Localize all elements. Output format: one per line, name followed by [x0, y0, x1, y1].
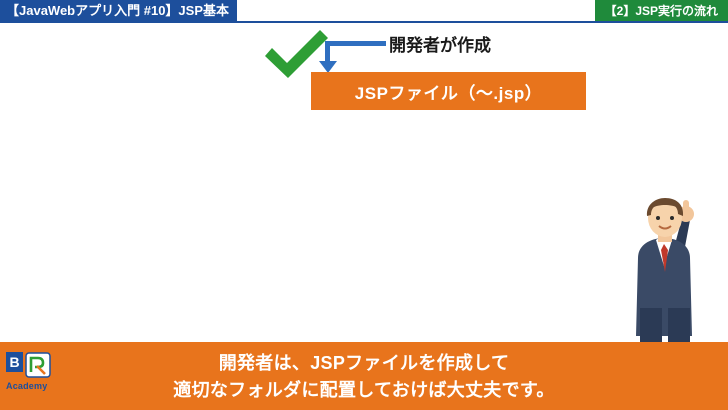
- header-bar: 【JavaWebアプリ入門 #10】JSP基本 【2】JSP実行の流れ: [0, 0, 728, 22]
- caption-line-2: 適切なフォルダに配置しておけば大丈夫です。: [0, 377, 728, 404]
- arrow-horizontal-segment: [330, 41, 386, 46]
- header-left-title: 【JavaWebアプリ入門 #10】JSP基本: [0, 0, 237, 22]
- jsp-file-box-label: JSPファイル（～.jsp）: [355, 79, 542, 104]
- logo-name: Academy: [6, 381, 52, 391]
- caption-line-1: 開発者は、JSPファイルを作成して: [0, 350, 728, 377]
- jsp-file-box: JSPファイル（～.jsp）: [311, 72, 586, 110]
- logo-letter: B: [6, 352, 23, 372]
- brand-logo: B Academy: [6, 352, 52, 404]
- caption-text: 開発者は、JSPファイルを作成して 適切なフォルダに配置しておけば大丈夫です。: [0, 350, 728, 404]
- header-divider-rule: [0, 21, 728, 23]
- logo-mark-icon: [25, 352, 51, 378]
- header-right-title: 【2】JSP実行の流れ: [595, 0, 728, 22]
- slide-canvas: 【JavaWebアプリ入門 #10】JSP基本 【2】JSP実行の流れ 開発者が…: [0, 0, 728, 410]
- developer-creates-label: 開発者が作成: [389, 31, 491, 56]
- presenter-character-illustration: [616, 196, 716, 356]
- arrow-vertical-segment: [325, 41, 330, 63]
